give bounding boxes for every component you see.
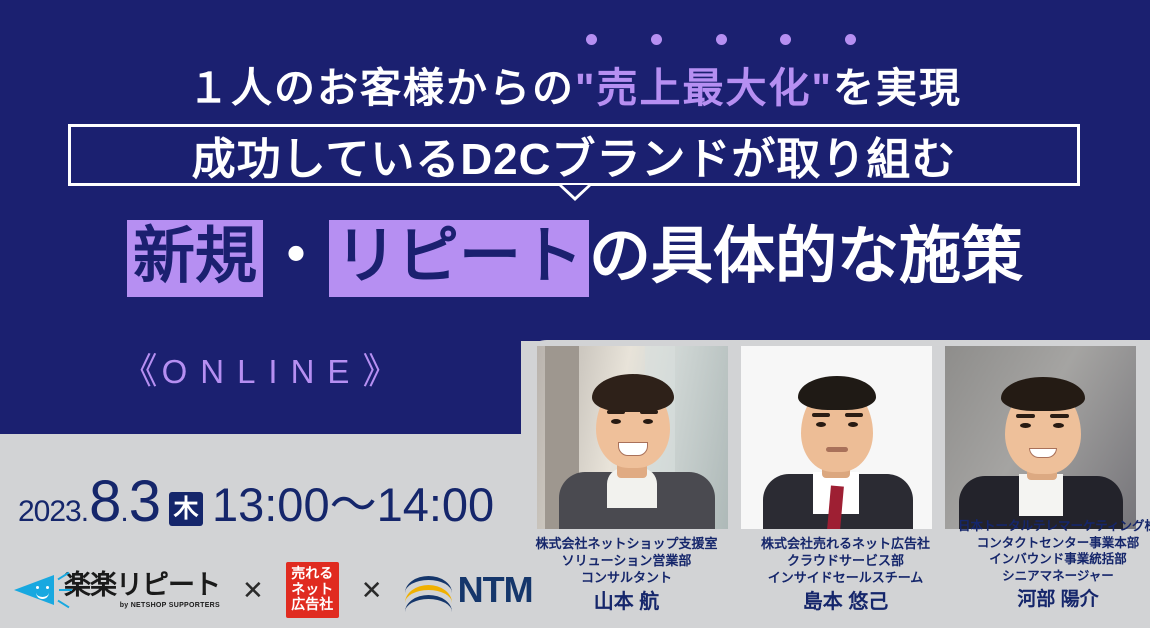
headline-line1-prefix: １人のお客様からの [188, 65, 575, 111]
speaker-caption-2: 株式会社売れるネット広告社 クラウドサービス部 インサイドセールスチーム 島本 … [747, 535, 944, 616]
logo-rakuraku-repeat: 楽楽リピート by NETSHOP SUPPORTERS [14, 572, 220, 609]
arc-icon [405, 574, 452, 606]
megaphone-icon [14, 572, 60, 608]
logo-ureru-net-kokokusha: 売れる ネット 広告社 [286, 562, 339, 618]
webinar-banner: １人のお客様からの"売上最大化"を実現 成功しているD2Cブランドが取り組む 新… [0, 0, 1150, 628]
emphasis-dot [780, 34, 791, 45]
speaker-3-company: 日本トータルテレマーケティング株式会社 [958, 518, 1150, 535]
headline-line1-suffix: を実現 [833, 65, 962, 111]
speaker-3-division: インバウンド事業統括部 [958, 551, 1150, 568]
ntm-name: NTM [458, 572, 533, 608]
speaker-1-department: ソリューション営業部 [528, 552, 725, 569]
speaker-photo-3 [945, 346, 1136, 529]
speaker-2-company: 株式会社売れるネット広告社 [747, 535, 944, 552]
headline-separator: ・ [263, 222, 329, 291]
ureru-line-1: 売れる [286, 566, 339, 582]
schedule-day-of-week-badge: 木 [169, 492, 203, 526]
speaker-caption-1: 株式会社ネットショップ支援室 ソリューション営業部 コンサルタント 山本 航 [528, 535, 725, 616]
box-notch-inner [562, 185, 588, 197]
schedule-year: 2023 [18, 495, 81, 529]
logo-strip: 楽楽リピート by NETSHOP SUPPORTERS ✕ 売れる ネット 広… [14, 562, 533, 618]
speaker-caption-3: 日本トータルテレマーケティング株式会社 コンタクトセンター事業本部 インバウンド… [958, 518, 1150, 612]
speaker-1-company: 株式会社ネットショップ支援室 [528, 535, 725, 552]
speaker-photo-panel [521, 340, 1150, 529]
schedule-line: 2023 . 8 . 3 木 13:00〜14:00 [18, 466, 494, 535]
schedule-sep-1: . [81, 495, 89, 529]
emphasis-dot [716, 34, 727, 45]
logo-separator-1: ✕ [242, 577, 264, 603]
emphasis-dot [651, 34, 662, 45]
headline-line1-highlight: "売上最大化" [575, 65, 833, 111]
rakuraku-name: 楽楽リピート [64, 572, 220, 599]
headline-mark-new: 新規 [127, 220, 263, 297]
speaker-photo-2 [741, 346, 932, 529]
speaker-1-title: コンサルタント [528, 569, 725, 586]
speaker-1-name: 山本 航 [528, 589, 725, 615]
logo-ntm: NTM [405, 572, 533, 608]
emphasis-dot [845, 34, 856, 45]
headline-mark-repeat: リピート [329, 220, 589, 297]
online-label: ONLINE [162, 353, 363, 390]
headline-line-2: 成功しているD2Cブランドが取り組む [71, 127, 1077, 183]
headline-block: １人のお客様からの"売上最大化"を実現 成功しているD2Cブランドが取り組む 新… [0, 0, 1150, 341]
speaker-2-department: クラウドサービス部 [747, 552, 944, 569]
speaker-2-name: 島本 悠己 [747, 589, 944, 615]
speaker-3-title: シニアマネージャー [958, 568, 1150, 585]
bracket-right: 》 [362, 350, 402, 391]
headline-line-3: 新規・リピートの具体的な施策 [0, 205, 1150, 295]
schedule-time: 13:00〜14:00 [212, 466, 494, 535]
ureru-line-3: 広告社 [286, 597, 339, 613]
headline-line-2-box: 成功しているD2Cブランドが取り組む [68, 124, 1080, 186]
schedule-sep-2: . [120, 495, 128, 529]
schedule-day: 3 [129, 473, 160, 531]
headline-line3-suffix: の具体的な施策 [589, 222, 1023, 291]
logo-separator-2: ✕ [361, 577, 383, 603]
ureru-line-2: ネット [286, 582, 339, 598]
speaker-2-title: インサイドセールスチーム [747, 569, 944, 586]
speaker-3-department: コンタクトセンター事業本部 [958, 535, 1150, 552]
bracket-left: 《 [122, 350, 162, 391]
online-badge: 《ONLINE》 [52, 342, 472, 394]
speaker-3-name: 河部 陽介 [958, 587, 1150, 612]
headline-line-1: １人のお客様からの"売上最大化"を実現 [0, 54, 1150, 114]
emphasis-dot [586, 34, 597, 45]
speaker-photo-1 [537, 346, 728, 529]
schedule-month: 8 [89, 473, 120, 531]
rakuraku-tagline: by NETSHOP SUPPORTERS [64, 602, 220, 609]
emphasis-dots [586, 34, 856, 48]
